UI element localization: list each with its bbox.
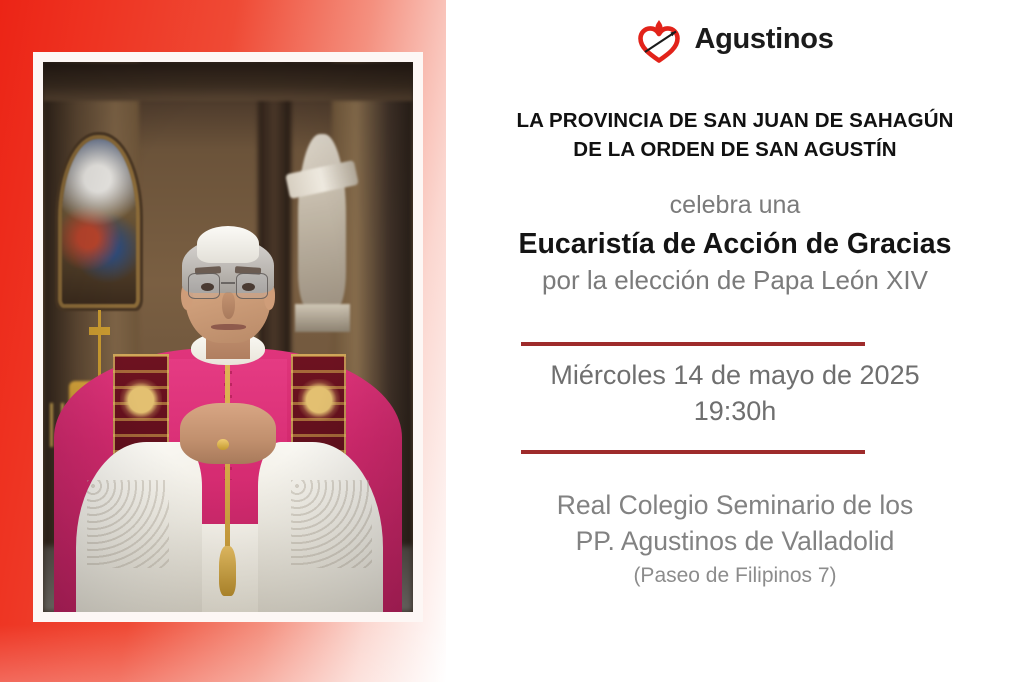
photo-frame [33,52,423,622]
brand-lockup: Agustinos [446,14,1024,64]
bishop-photo [43,62,413,612]
announcement-subtitle: por la elección de Papa León XIV [446,264,1024,296]
venue-block: Real Colegio Seminario de los PP. Agusti… [446,487,1024,590]
schedule-block: Miércoles 14 de mayo de 2025 19:30h [446,358,1024,429]
announcement-title: Eucaristía de Acción de Gracias [446,227,1024,262]
brand-name: Agustinos [694,23,833,56]
divider-rule-top [521,342,865,346]
divider-rule-bottom [521,450,865,454]
announcement-intro: celebra una [446,190,1024,221]
organization-line-1: LA PROVINCIA DE SAN JUAN DE SAHAGÚN [446,106,1024,135]
organization-line-2: DE LA ORDEN DE SAN AGUSTÍN [446,135,1024,164]
announcement-block: celebra una Eucaristía de Acción de Grac… [446,190,1024,296]
venue-line-2: PP. Agustinos de Valladolid [446,523,1024,559]
poster-canvas: Agustinos LA PROVINCIA DE SAN JUAN DE SA… [0,0,1024,682]
event-time: 19:30h [446,394,1024,430]
augustinian-flaming-heart-pierced-by-arrow-icon [636,14,682,64]
organization-title: LA PROVINCIA DE SAN JUAN DE SAHAGÚN DE L… [446,106,1024,164]
venue-address: (Paseo de Filipinos 7) [446,561,1024,590]
event-date: Miércoles 14 de mayo de 2025 [446,358,1024,394]
content-column: Agustinos LA PROVINCIA DE SAN JUAN DE SA… [446,0,1024,682]
venue-line-1: Real Colegio Seminario de los [446,487,1024,523]
photo-vignette [43,62,413,612]
